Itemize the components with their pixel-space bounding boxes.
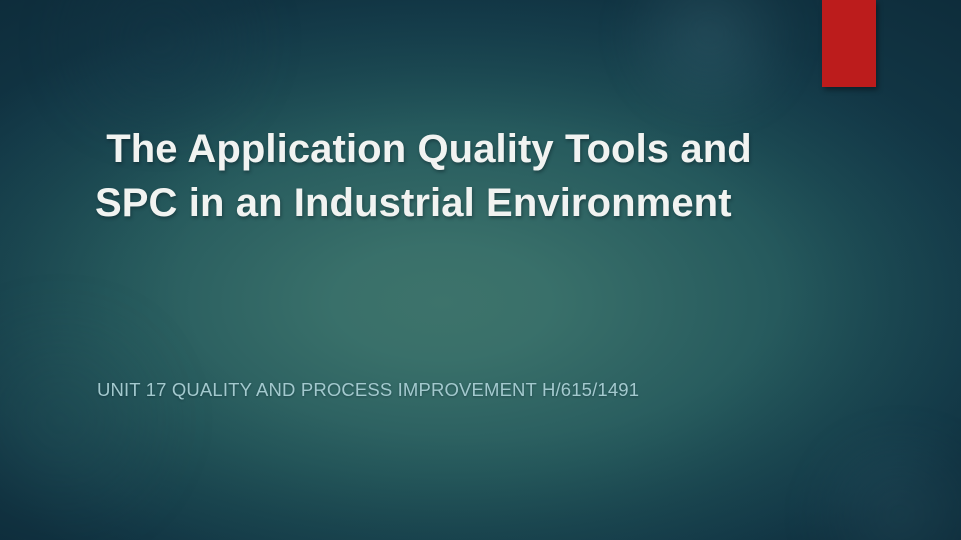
background-vignette (0, 0, 961, 540)
subtitle-placeholder[interactable]: UNIT 17 QUALITY AND PROCESS IMPROVEMENT … (97, 378, 837, 402)
red-rectangle-accent (822, 0, 876, 87)
slide-subtitle: UNIT 17 QUALITY AND PROCESS IMPROVEMENT … (97, 378, 837, 402)
title-placeholder[interactable]: The Application Quality Tools and SPC in… (95, 122, 755, 230)
page-title: The Application Quality Tools and SPC in… (95, 122, 755, 230)
title-slide: The Application Quality Tools and SPC in… (0, 0, 961, 540)
